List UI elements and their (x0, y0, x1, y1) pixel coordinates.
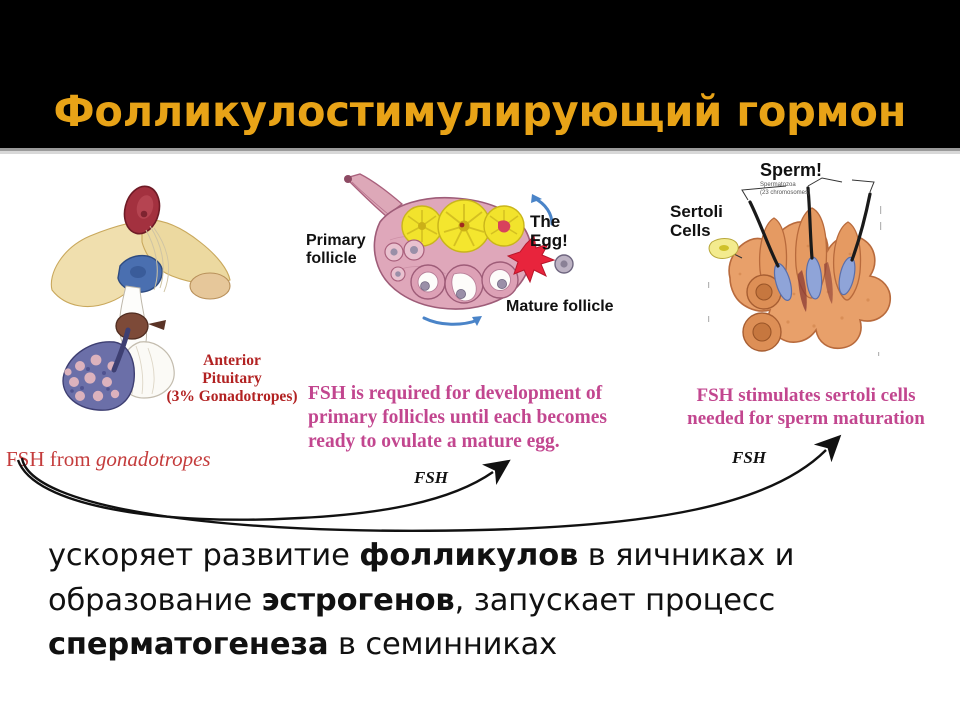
slide-body-text: ускоряет развитие фолликулов в яичниках … (48, 534, 928, 668)
primary-follicle-label-line2: follicle (306, 250, 382, 268)
fsh-arrow-label-testis: FSH (732, 448, 766, 468)
anterior-pituitary-label-line1: Anterior (152, 352, 312, 370)
sertoli-cells-label-line2: Cells (670, 221, 723, 240)
spermatozoa-sublabel-line1: Spermatozoa (760, 182, 832, 190)
primary-follicle-label-line1: Primary (306, 232, 382, 250)
sertoli-cells-label-line1: Sertoli (670, 202, 723, 221)
body-line-3-part-b: в семинниках (328, 627, 557, 662)
body-line-3-bold-spermatogenesis: сперматогенеза (48, 627, 328, 662)
sertoli-caption-line1: FSH stimulates sertoli cells (656, 384, 956, 407)
sertoli-cells-label: Sertoli Cells (670, 202, 723, 241)
title-divider-light (0, 151, 960, 154)
spermatozoa-sublabel: Spermatozoa (23 chromosomes) (760, 182, 832, 197)
fsh-arrow-to-testis (22, 450, 826, 531)
body-line-1-bold-follicles: фолликулов (359, 538, 578, 573)
sperm-label: Sperm! (760, 160, 822, 181)
fsh-arrow-label-ovary: FSH (414, 468, 448, 488)
slide-root: Фолликулостимулирующий гормон (0, 0, 960, 720)
spermatozoa-sublabel-line2: (23 chromosomes) (760, 190, 832, 198)
fsh-arrow-layer: FSH FSH (0, 430, 960, 540)
ovary-caption-line2: primary follicles until each becomes (308, 406, 664, 430)
anterior-pituitary-label-line2: Pituitary (152, 370, 312, 388)
body-line-2-part-c: , запускает процесс (455, 583, 776, 618)
body-line-2-part-a: образование (48, 583, 262, 618)
primary-follicle-label: Primary follicle (306, 232, 382, 268)
mature-follicle-label: Mature follicle (506, 298, 614, 316)
body-line-2: образование эстрогенов, запускает процес… (48, 579, 928, 624)
fsh-arrows-svg (0, 430, 960, 540)
body-line-3: сперматогенеза в семинниках (48, 623, 928, 668)
body-line-1-part-c: в яичниках и (578, 538, 794, 573)
the-egg-label: The Egg! (530, 212, 568, 250)
anterior-pituitary-label: Anterior Pituitary (3% Gonadotropes) (152, 352, 312, 406)
sertoli-caption-line2: needed for sperm maturation (656, 407, 956, 430)
body-line-1: ускоряет развитие фолликулов в яичниках … (48, 534, 928, 579)
body-line-1-part-a: ускоряет развитие (48, 538, 359, 573)
the-egg-label-line2: Egg! (530, 231, 568, 250)
anterior-pituitary-label-line3: (3% Gonadotropes) (152, 388, 312, 406)
body-line-2-bold-estrogens: эстрогенов (262, 583, 455, 618)
page-title: Фолликулостимулирующий гормон (54, 91, 907, 134)
title-bar: Фолликулостимулирующий гормон (0, 0, 960, 148)
sertoli-caption: FSH stimulates sertoli cells needed for … (656, 384, 956, 430)
the-egg-label-line1: The (530, 212, 568, 231)
ovary-caption-line1: FSH is required for development of (308, 382, 664, 406)
